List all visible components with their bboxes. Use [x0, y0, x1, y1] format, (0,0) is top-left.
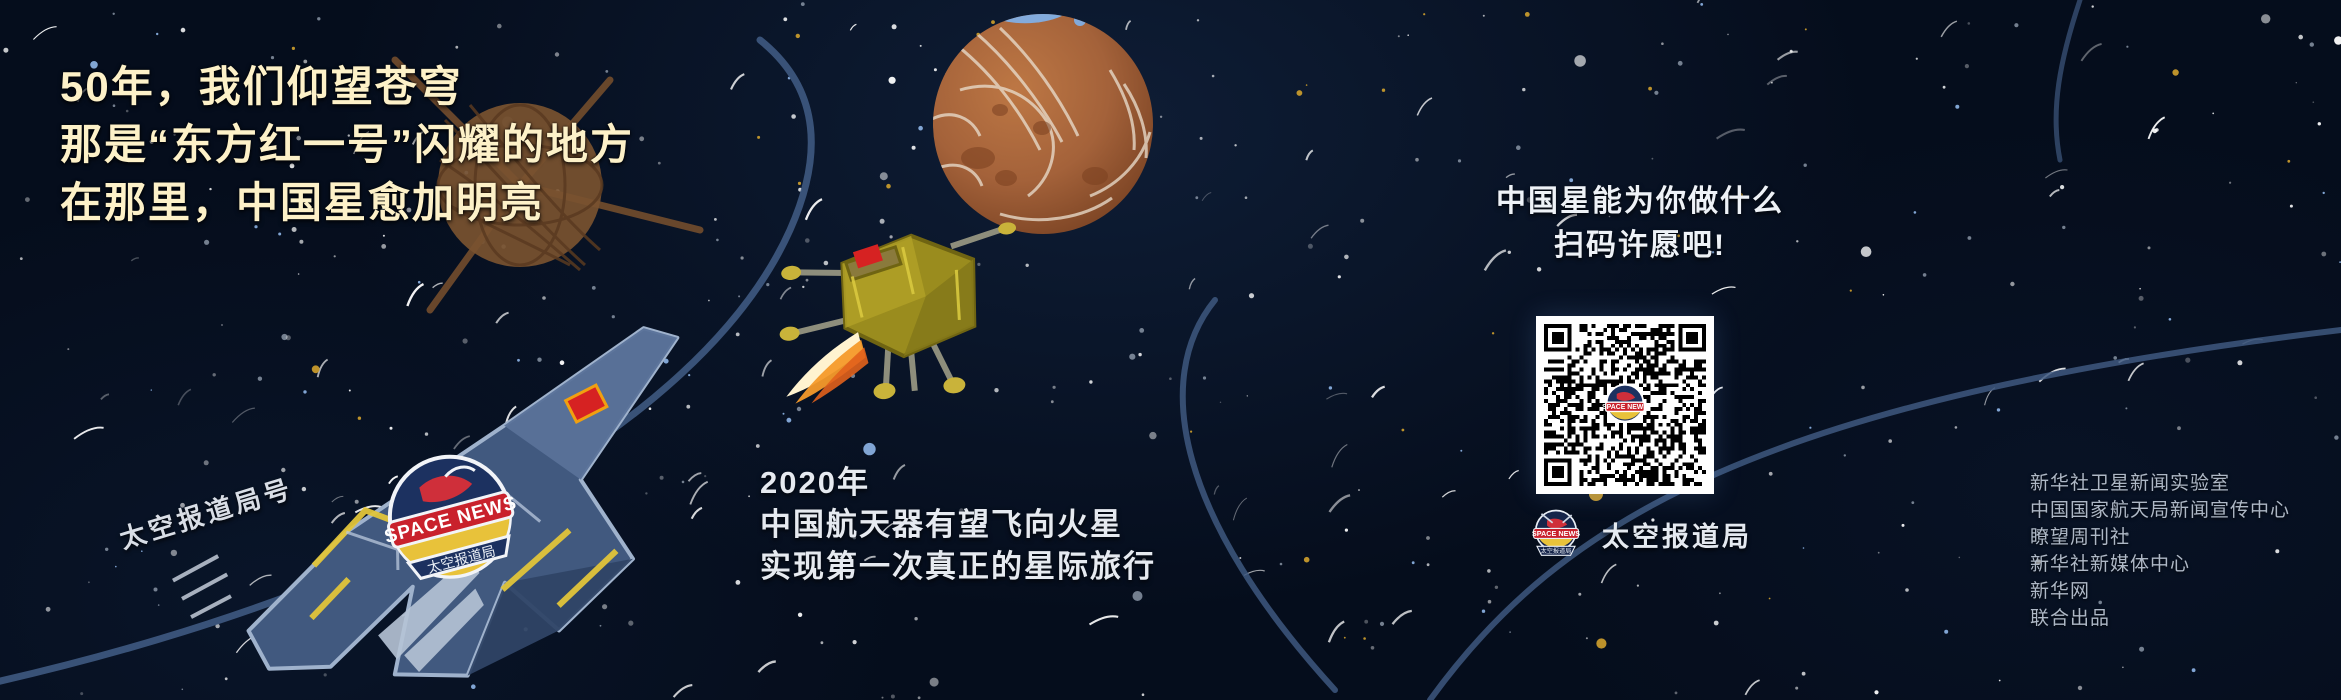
credit-line: 中国国家航天局新闻宣传中心: [2030, 497, 2290, 524]
credit-line: 联合出品: [2030, 605, 2290, 632]
mars-note-line-3: 实现第一次真正的星际旅行: [760, 546, 1156, 588]
credits-block: 新华社卫星新闻实验室 中国国家航天局新闻宣传中心 瞭望周刊社 新华社新媒体中心 …: [2030, 470, 2290, 632]
qr-heading-line-1: 中国星能为你做什么: [1430, 180, 1850, 224]
credit-line: 新华社卫星新闻实验室: [2030, 470, 2290, 497]
credit-line: 瞭望周刊社: [2030, 524, 2290, 551]
qr-logo-text: SPACE NEWS: [1602, 404, 1648, 411]
qr-heading: 中国星能为你做什么 扫码许愿吧!: [1430, 180, 1850, 268]
spaceplane-speed-lines: [170, 555, 236, 619]
headline-block: 50年，我们仰望苍穹 那是“东方红一号”闪耀的地方 在那里，中国星愈加明亮: [60, 62, 634, 236]
brand-name: 太空报道局: [1602, 515, 1752, 554]
mars-note-line-2: 中国航天器有望飞向火星: [760, 504, 1156, 546]
space-news-badge-icon: SPACE NEWS 太空报道局: [1528, 506, 1584, 562]
headline-line-1: 50年，我们仰望苍穹: [60, 62, 634, 112]
qr-center-logo: SPACE NEWS: [1602, 382, 1648, 428]
qr-heading-line-2: 扫码许愿吧!: [1430, 224, 1850, 268]
credit-line: 新华社新媒体中心: [2030, 551, 2290, 578]
headline-line-3: 在那里，中国星愈加明亮: [60, 178, 634, 228]
qr-code[interactable]: SPACE NEWS: [1536, 316, 1714, 494]
badge-sub-text: 太空报道局: [1541, 547, 1572, 555]
credit-line: 新华网: [2030, 578, 2290, 605]
mars-note-line-1: 2020年: [760, 462, 1156, 504]
headline-line-2: 那是“东方红一号”闪耀的地方: [60, 120, 634, 170]
badge-text: SPACE NEWS: [1532, 529, 1580, 538]
space-poster: SPACE NEWS 太空报道局 50年，我们仰望苍穹 那是“东方红一号”闪耀的…: [0, 0, 2341, 700]
brand-row: SPACE NEWS 太空报道局 太空报道局: [1528, 506, 1752, 562]
mars-mission-note: 2020年 中国航天器有望飞向火星 实现第一次真正的星际旅行: [760, 462, 1156, 588]
